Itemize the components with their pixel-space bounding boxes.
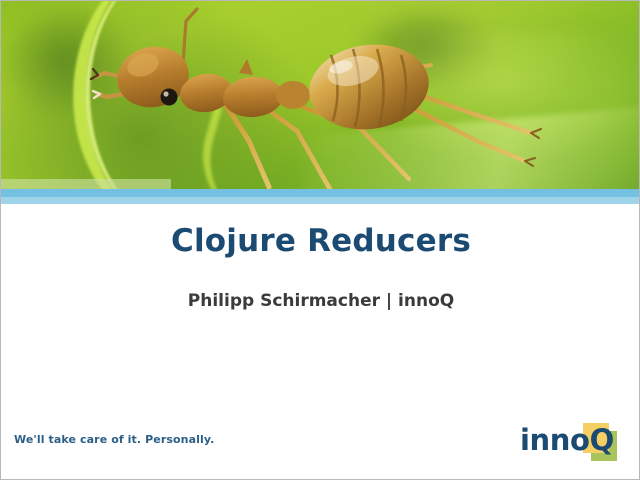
hero-photo xyxy=(1,1,640,191)
presentation-slide: Clojure Reducers Philipp Schirmacher | i… xyxy=(0,0,640,480)
ant-illustration xyxy=(1,1,640,191)
logo-wordmark-inno: inno xyxy=(520,423,590,457)
accent-band-blue-light xyxy=(1,197,640,204)
logo-wordmark: innoQ xyxy=(520,419,630,465)
slide-title: Clojure Reducers xyxy=(1,223,640,259)
slide-subtitle: Philipp Schirmacher | innoQ xyxy=(1,291,640,311)
footer-tagline: We'll take care of it. Personally. xyxy=(14,433,214,446)
innoq-logo: innoQ xyxy=(520,419,630,465)
logo-wordmark-q: Q xyxy=(590,423,614,457)
